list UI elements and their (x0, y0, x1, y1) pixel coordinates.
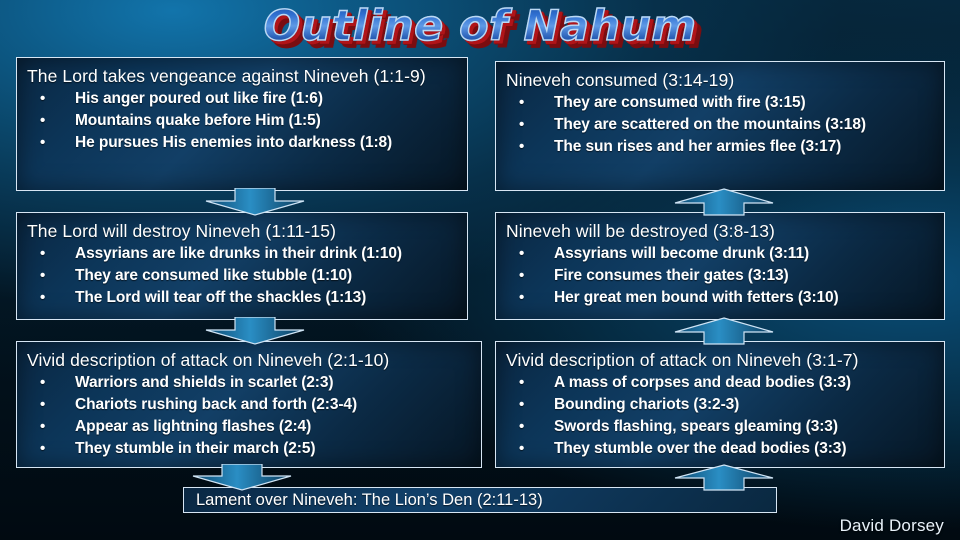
list-item-label: Chariots rushing back and forth (2:3-4) (75, 396, 357, 413)
list-item: •They are consumed with fire (3:15) (506, 92, 934, 114)
bullet-icon: • (519, 438, 524, 460)
arrow-left-3-to-bottom-down-icon (190, 464, 294, 491)
box-heading: The Lord will destroy Nineveh (1:11-15) (27, 220, 457, 243)
bullet-icon: • (519, 243, 524, 265)
list-item-label: Fire consumes their gates (3:13) (554, 267, 789, 284)
outline-box-left-1[interactable]: The Lord takes vengeance against Nineveh… (16, 57, 468, 191)
box-bullet-list: •Warriors and shields in scarlet (2:3) •… (27, 372, 471, 460)
list-item-label: The Lord will tear off the shackles (1:1… (75, 289, 366, 306)
box-heading: Lament over Nineveh: The Lion’s Den (2:1… (196, 490, 776, 511)
list-item-label: His anger poured out like fire (1:6) (75, 90, 323, 107)
list-item-label: Her great men bound with fetters (3:10) (554, 289, 839, 306)
list-item: •Fire consumes their gates (3:13) (506, 265, 934, 287)
bullet-icon: • (40, 394, 45, 416)
bullet-icon: • (40, 110, 45, 132)
list-item: •The Lord will tear off the shackles (1:… (27, 287, 457, 309)
page-title: Outline of Nahum (264, 2, 697, 50)
bullet-icon: • (40, 88, 45, 110)
list-item-label: Mountains quake before Him (1:5) (75, 112, 321, 129)
list-item: •Bounding chariots (3:2-3) (506, 394, 934, 416)
list-item: •They are scattered on the mountains (3:… (506, 114, 934, 136)
bullet-icon: • (40, 287, 45, 309)
bullet-icon: • (519, 394, 524, 416)
list-item: •They stumble in their march (2:5) (27, 438, 471, 460)
list-item-label: They are scattered on the mountains (3:1… (554, 116, 866, 133)
list-item: •Appear as lightning flashes (2:4) (27, 416, 471, 438)
bullet-icon: • (519, 372, 524, 394)
list-item: •They stumble over the dead bodies (3:3) (506, 438, 934, 460)
list-item-label: They are consumed like stubble (1:10) (75, 267, 352, 284)
author-credit: David Dorsey (840, 516, 944, 536)
title-container: Outline of Nahum (0, 2, 960, 50)
arrow-right-3-to-2-up-icon (672, 317, 776, 345)
list-item: •Mountains quake before Him (1:5) (27, 110, 457, 132)
list-item: •Assyrians will become drunk (3:11) (506, 243, 934, 265)
list-item: •Warriors and shields in scarlet (2:3) (27, 372, 471, 394)
box-heading: Vivid description of attack on Nineveh (… (27, 349, 471, 372)
box-heading: The Lord takes vengeance against Nineveh… (27, 65, 457, 88)
list-item: •His anger poured out like fire (1:6) (27, 88, 457, 110)
box-heading: Nineveh will be destroyed (3:8-13) (506, 220, 934, 243)
bullet-icon: • (519, 92, 524, 114)
list-item-label: A mass of corpses and dead bodies (3:3) (554, 374, 851, 391)
bullet-icon: • (519, 114, 524, 136)
bullet-icon: • (519, 416, 524, 438)
list-item-label: They stumble in their march (2:5) (75, 440, 315, 457)
list-item: •Her great men bound with fetters (3:10) (506, 287, 934, 309)
box-heading: Nineveh consumed (3:14-19) (506, 69, 934, 92)
outline-box-right-2[interactable]: Nineveh will be destroyed (3:8-13) •Assy… (495, 212, 945, 320)
list-item: •Swords flashing, spears gleaming (3:3) (506, 416, 934, 438)
bullet-icon: • (519, 287, 524, 309)
list-item-label: They stumble over the dead bodies (3:3) (554, 440, 846, 457)
list-item-label: He pursues His enemies into darkness (1:… (75, 134, 392, 151)
box-bullet-list: •His anger poured out like fire (1:6) •M… (27, 88, 457, 154)
list-item-label: They are consumed with fire (3:15) (554, 94, 806, 111)
bullet-icon: • (40, 438, 45, 460)
list-item: •Assyrians are like drunks in their drin… (27, 243, 457, 265)
outline-box-right-3[interactable]: Vivid description of attack on Nineveh (… (495, 341, 945, 468)
bullet-icon: • (40, 416, 45, 438)
arrow-bottom-to-right-3-up-icon (672, 464, 776, 491)
slide-canvas: Outline of Nahum The Lord takes vengeanc… (0, 0, 960, 540)
outline-box-left-2[interactable]: The Lord will destroy Nineveh (1:11-15) … (16, 212, 468, 320)
bullet-icon: • (40, 372, 45, 394)
bullet-icon: • (519, 265, 524, 287)
box-bullet-list: •A mass of corpses and dead bodies (3:3)… (506, 372, 934, 460)
list-item: •A mass of corpses and dead bodies (3:3) (506, 372, 934, 394)
arrow-right-2-to-1-up-icon (672, 188, 776, 216)
list-item-label: Bounding chariots (3:2-3) (554, 396, 739, 413)
list-item: •Chariots rushing back and forth (2:3-4) (27, 394, 471, 416)
arrow-left-2-to-3-down-icon (203, 317, 307, 345)
list-item: •He pursues His enemies into darkness (1… (27, 132, 457, 154)
bullet-icon: • (40, 265, 45, 287)
outline-box-right-1[interactable]: Nineveh consumed (3:14-19) •They are con… (495, 61, 945, 191)
list-item-label: The sun rises and her armies flee (3:17) (554, 138, 841, 155)
box-bullet-list: •They are consumed with fire (3:15) •The… (506, 92, 934, 158)
box-bullet-list: •Assyrians are like drunks in their drin… (27, 243, 457, 309)
arrow-left-1-to-2-down-icon (203, 188, 307, 216)
list-item-label: Assyrians will become drunk (3:11) (554, 245, 809, 262)
list-item-label: Warriors and shields in scarlet (2:3) (75, 374, 333, 391)
list-item: •They are consumed like stubble (1:10) (27, 265, 457, 287)
bullet-icon: • (519, 136, 524, 158)
list-item-label: Appear as lightning flashes (2:4) (75, 418, 311, 435)
box-heading: Vivid description of attack on Nineveh (… (506, 349, 934, 372)
list-item: •The sun rises and her armies flee (3:17… (506, 136, 934, 158)
outline-box-left-3[interactable]: Vivid description of attack on Nineveh (… (16, 341, 482, 468)
bullet-icon: • (40, 132, 45, 154)
bullet-icon: • (40, 243, 45, 265)
box-bullet-list: •Assyrians will become drunk (3:11) •Fir… (506, 243, 934, 309)
list-item-label: Assyrians are like drunks in their drink… (75, 245, 402, 262)
list-item-label: Swords flashing, spears gleaming (3:3) (554, 418, 838, 435)
